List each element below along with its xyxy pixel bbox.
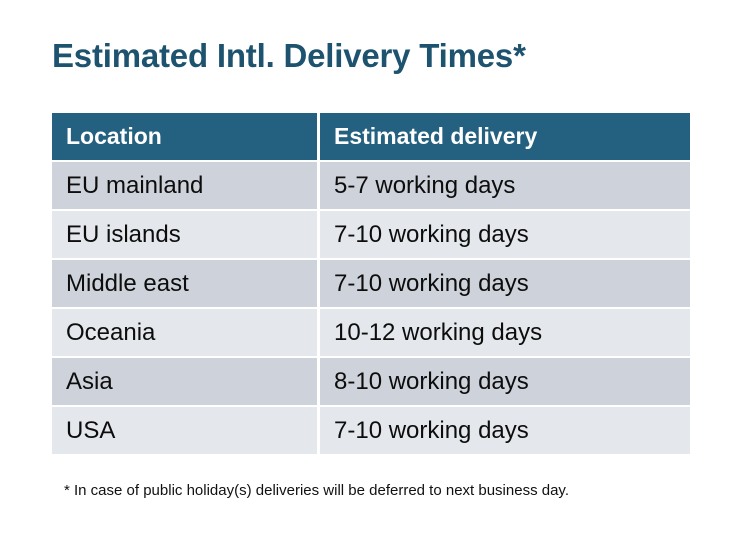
page-title: Estimated Intl. Delivery Times* [52,36,526,76]
table-row: Oceania 10-12 working days [52,309,690,356]
cell-location: Middle east [52,260,317,307]
cell-estimated-delivery: 10-12 working days [320,309,690,356]
column-header-location: Location [52,113,317,160]
delivery-times-page: Estimated Intl. Delivery Times* Location… [0,0,745,536]
cell-location: EU islands [52,211,317,258]
cell-estimated-delivery: 5-7 working days [320,162,690,209]
estimated-delivery-times-table: Location Estimated delivery EU mainland … [52,113,690,454]
cell-location: Oceania [52,309,317,356]
table-row: Asia 8-10 working days [52,358,690,405]
table-row: EU mainland 5-7 working days [52,162,690,209]
table-row: EU islands 7-10 working days [52,211,690,258]
table-row: USA 7-10 working days [52,407,690,454]
cell-location: USA [52,407,317,454]
footnote-text: * In case of public holiday(s) deliverie… [64,481,569,501]
cell-estimated-delivery: 8-10 working days [320,358,690,405]
table-header-row: Location Estimated delivery [52,113,690,160]
cell-estimated-delivery: 7-10 working days [320,211,690,258]
table-row: Middle east 7-10 working days [52,260,690,307]
cell-estimated-delivery: 7-10 working days [320,260,690,307]
cell-estimated-delivery: 7-10 working days [320,407,690,454]
cell-location: EU mainland [52,162,317,209]
column-header-estimated-delivery: Estimated delivery [320,113,690,160]
cell-location: Asia [52,358,317,405]
